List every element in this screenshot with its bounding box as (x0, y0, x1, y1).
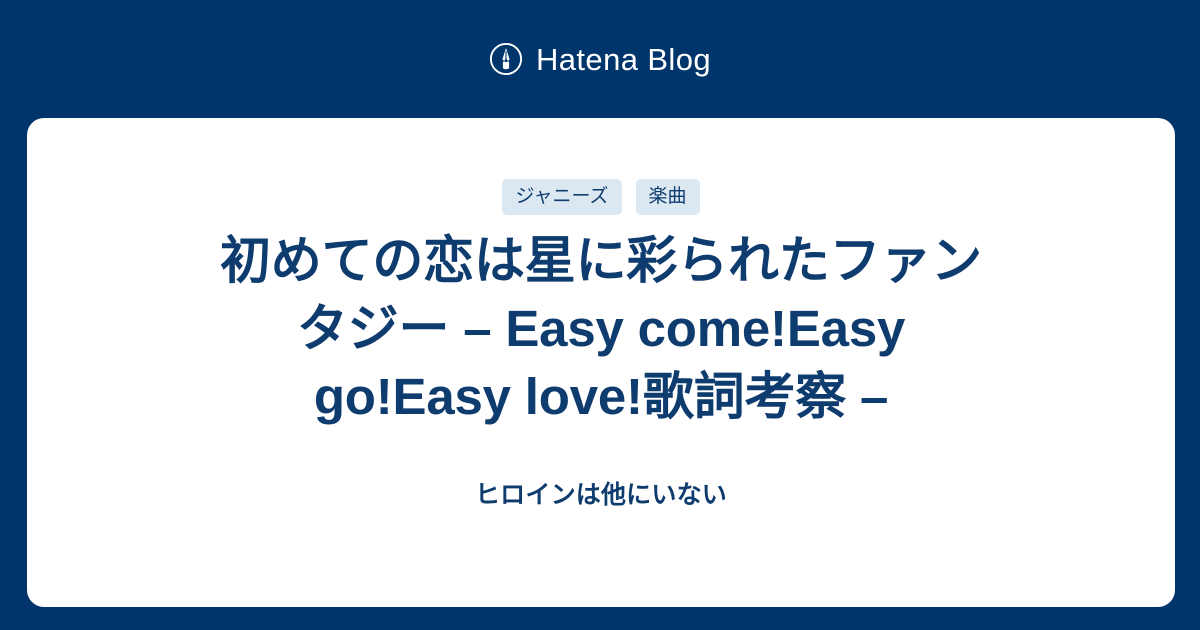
blog-name: ヒロインは他にいない (475, 478, 727, 513)
pen-nib-in-circle-icon (489, 42, 523, 76)
hatena-blog-og-card: Hatena Blog ジャニーズ 楽曲 初めての恋は星に彩られたファンタジー … (0, 0, 1200, 630)
tag-item[interactable]: ジャニーズ (502, 179, 621, 215)
entry-title: 初めての恋は星に彩られたファンタジー – Easy come!Easy go!E… (206, 227, 996, 430)
brand-name: Hatena Blog (536, 44, 711, 75)
entry-card: ジャニーズ 楽曲 初めての恋は星に彩られたファンタジー – Easy come!… (27, 118, 1175, 607)
tag-list: ジャニーズ 楽曲 (502, 180, 699, 213)
brand-header: Hatena Blog (0, 0, 1200, 118)
tag-item[interactable]: 楽曲 (636, 179, 700, 215)
